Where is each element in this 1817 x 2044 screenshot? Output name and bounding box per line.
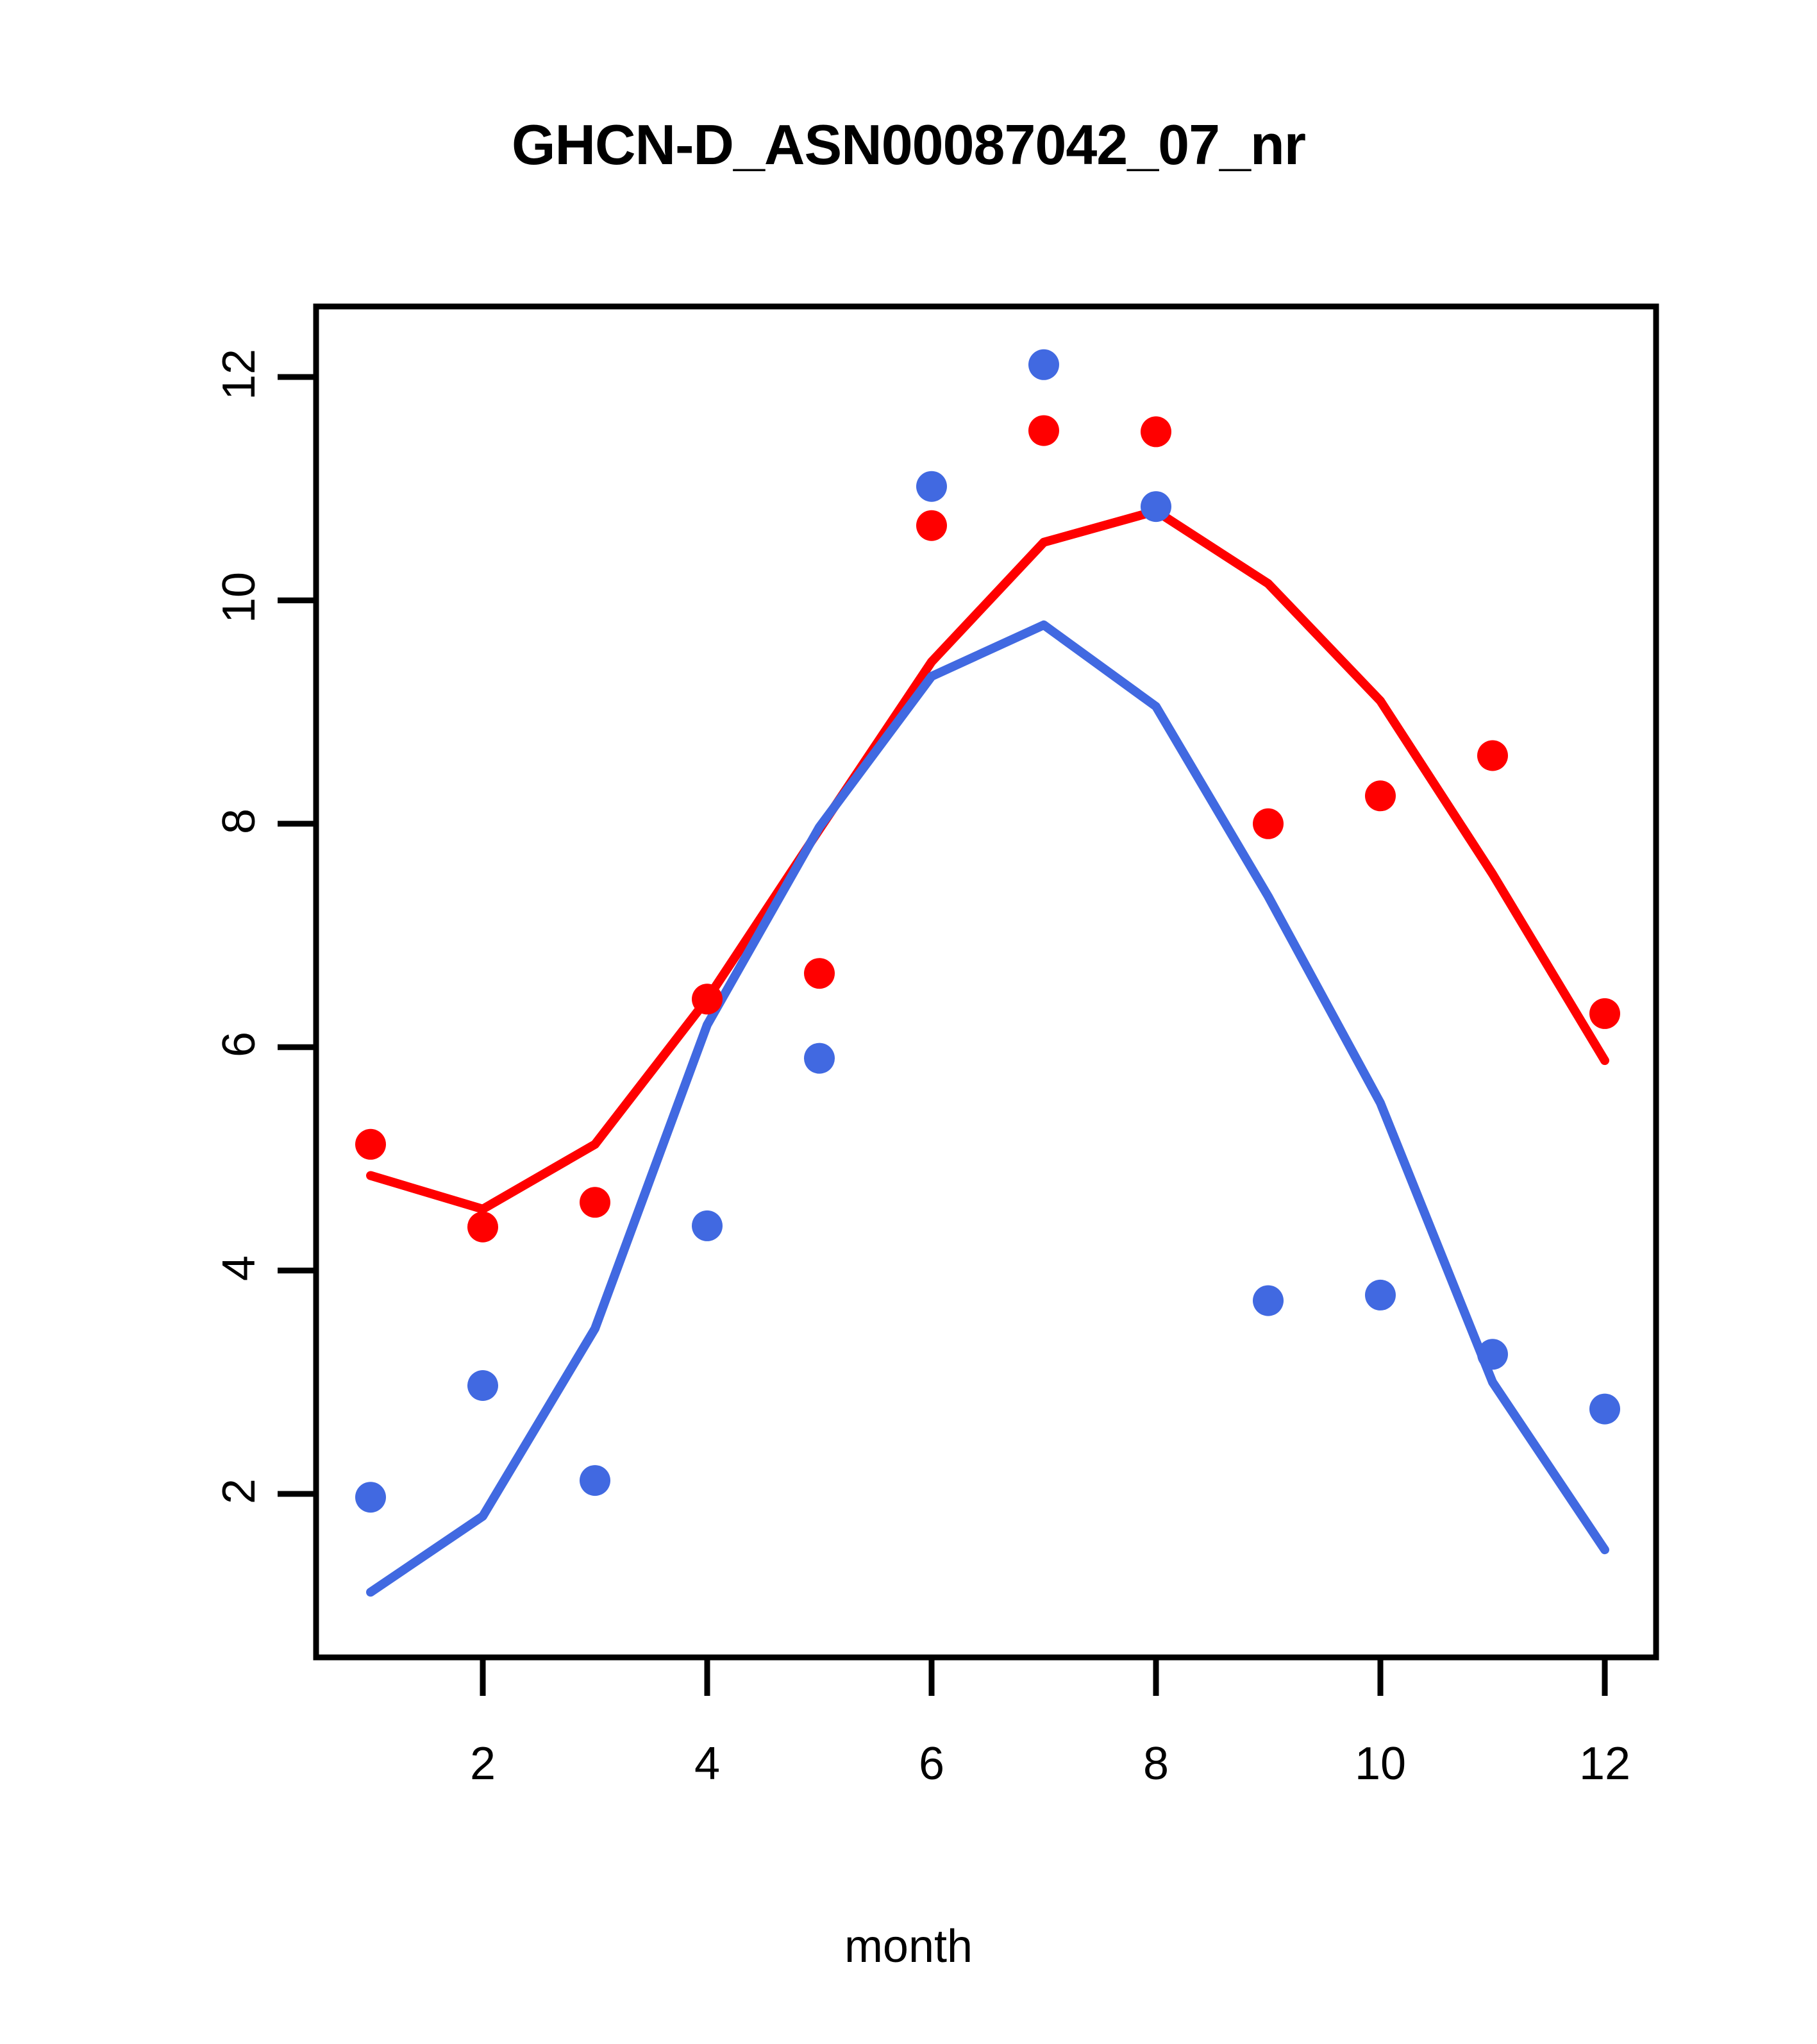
x-axis-tick-label: 2 xyxy=(419,1738,547,1790)
x-axis-title: month xyxy=(0,1920,1817,1973)
data-lines-group xyxy=(371,511,1605,1592)
data-point xyxy=(1141,416,1171,447)
data-point xyxy=(1589,1394,1620,1425)
y-axis-tick-label: 4 xyxy=(213,1204,265,1332)
data-point xyxy=(1365,780,1396,811)
data-point xyxy=(1477,741,1508,771)
data-points-group xyxy=(355,349,1620,1512)
y-axis-tick-label: 10 xyxy=(213,533,265,662)
x-axis-tick-label: 4 xyxy=(643,1738,771,1790)
x-axis-tick-label: 12 xyxy=(1541,1738,1669,1790)
x-axis-tick-label: 6 xyxy=(867,1738,996,1790)
series-line-blue-line xyxy=(371,625,1605,1593)
data-point xyxy=(804,1043,835,1074)
data-point xyxy=(467,1212,498,1243)
y-axis-tick-label: 2 xyxy=(213,1427,265,1555)
data-point xyxy=(1365,1280,1396,1311)
data-point xyxy=(692,984,723,1014)
x-axis-tick-label: 10 xyxy=(1316,1738,1444,1790)
data-point xyxy=(692,1210,723,1241)
data-point xyxy=(916,471,947,502)
data-point xyxy=(1028,349,1059,380)
y-axis-tick-label: 12 xyxy=(213,310,265,439)
data-point xyxy=(580,1187,610,1218)
data-point xyxy=(1589,998,1620,1029)
data-point xyxy=(1028,415,1059,446)
data-point xyxy=(467,1370,498,1401)
axes-group xyxy=(278,306,1656,1696)
data-point xyxy=(580,1465,610,1496)
y-axis-tick-label: 8 xyxy=(213,757,265,885)
data-point xyxy=(1477,1339,1508,1370)
data-point xyxy=(804,958,835,989)
data-point xyxy=(916,510,947,541)
chart-container: GHCN-D_ASN00087042_07_nr 24681012 246810… xyxy=(0,0,1817,2044)
x-axis-tick-label: 8 xyxy=(1092,1738,1220,1790)
data-point xyxy=(1253,1286,1284,1316)
data-point xyxy=(1253,808,1284,839)
data-point xyxy=(355,1129,386,1160)
series-line-red-line xyxy=(371,511,1605,1209)
data-point xyxy=(355,1482,386,1512)
data-point xyxy=(1141,491,1171,522)
y-axis-tick-label: 6 xyxy=(213,980,265,1109)
